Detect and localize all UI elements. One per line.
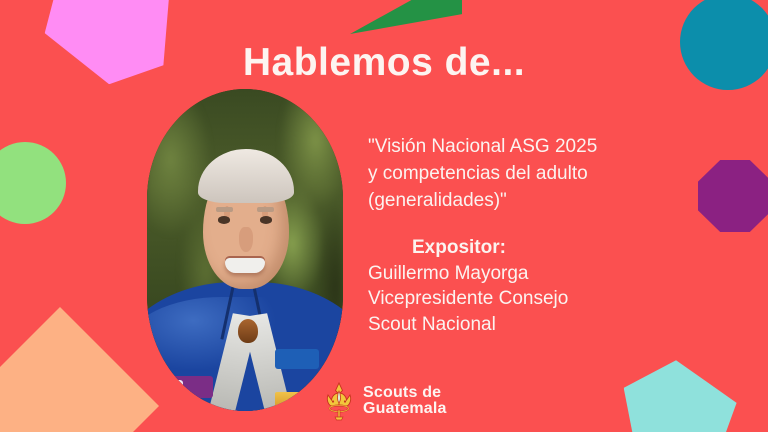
fleur-de-lis-scout-emblem-icon	[322, 381, 356, 421]
photo-nose	[239, 227, 253, 251]
photo-eye-left	[218, 216, 231, 224]
decoration-cyan-pentagon	[622, 357, 739, 432]
slide-title: Hablemos de...	[0, 43, 768, 82]
decoration-peach-diamond	[0, 307, 159, 432]
organization-logo: Scouts de Guatemala	[322, 381, 447, 421]
decoration-purple-octagon	[698, 160, 768, 232]
photo-brow-left	[216, 207, 234, 212]
photo-badge-gold	[275, 392, 325, 408]
photo-woggle	[238, 319, 258, 343]
photo-badge-purple	[167, 376, 213, 398]
presenter-label: Expositor:	[368, 237, 698, 259]
speaker-photo	[147, 89, 343, 411]
presenter-name-and-role: Guillermo Mayorga Vicepresidente Consejo…	[368, 261, 698, 337]
organization-logo-text: Scouts de Guatemala	[363, 385, 447, 417]
decoration-green-circle	[0, 142, 66, 224]
topic-quote: "Visión Nacional ASG 2025 y competencias…	[368, 134, 698, 215]
photo-eye-right	[260, 216, 273, 224]
speaker-photo-image	[147, 89, 343, 411]
photo-mouth	[225, 258, 264, 272]
slide-content: "Visión Nacional ASG 2025 y competencias…	[368, 134, 698, 337]
decoration-green-triangle	[350, 0, 462, 34]
photo-badge-blue	[275, 349, 319, 369]
photo-brow-right	[257, 207, 275, 212]
